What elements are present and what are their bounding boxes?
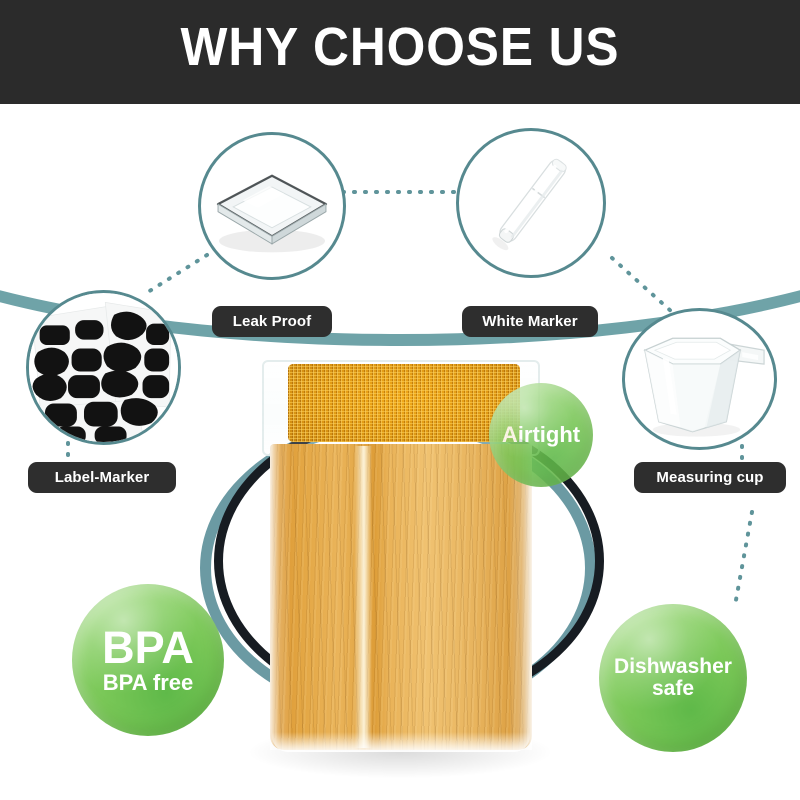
feature-circle-measuring-cup[interactable] — [622, 308, 777, 450]
badge-dishwasher-line2: safe — [652, 678, 694, 700]
badge-airtight[interactable]: Airtight — [489, 383, 593, 487]
pasta-top-surface — [288, 364, 520, 442]
container-wall-right — [510, 444, 532, 750]
pasta-texture — [288, 364, 520, 442]
badge-bpa[interactable]: BPA BPA free — [72, 584, 224, 736]
infographic-canvas: WHY CHOOSE US Leak Proof — [0, 0, 800, 800]
badge-dishwasher-line1: Dishwasher — [614, 656, 732, 678]
container-lid-icon — [201, 146, 343, 266]
badge-leak-proof-label: Leak Proof — [233, 313, 312, 330]
badge-leak-proof[interactable]: Leak Proof — [212, 306, 332, 337]
feature-circle-label-marker[interactable] — [26, 290, 181, 445]
marker-pen-icon — [459, 128, 603, 278]
feature-circle-leak-proof[interactable] — [198, 132, 346, 280]
badge-measuring-cup[interactable]: Measuring cup — [634, 462, 786, 493]
badge-airtight-label: Airtight — [502, 424, 580, 447]
measuring-cup-icon — [625, 314, 774, 444]
badge-label-marker-label: Label-Marker — [55, 469, 150, 486]
badge-measuring-cup-label: Measuring cup — [656, 469, 763, 486]
container-base-highlight — [272, 732, 530, 752]
chalkboard-labels-icon — [29, 290, 178, 445]
spaghetti-strands-overlay — [270, 444, 532, 750]
feature-circle-white-marker[interactable] — [456, 128, 606, 278]
badge-white-marker-label: White Marker — [482, 313, 577, 330]
container-body — [270, 444, 532, 750]
badge-dishwasher-safe[interactable]: Dishwasher safe — [599, 604, 747, 752]
container-front-edge — [354, 446, 372, 748]
badge-bpa-label: BPA — [102, 625, 194, 672]
badge-label-marker[interactable]: Label-Marker — [28, 462, 176, 493]
container-wall-left — [270, 444, 290, 750]
badge-bpa-sublabel: BPA free — [103, 672, 193, 695]
badge-white-marker[interactable]: White Marker — [462, 306, 598, 337]
